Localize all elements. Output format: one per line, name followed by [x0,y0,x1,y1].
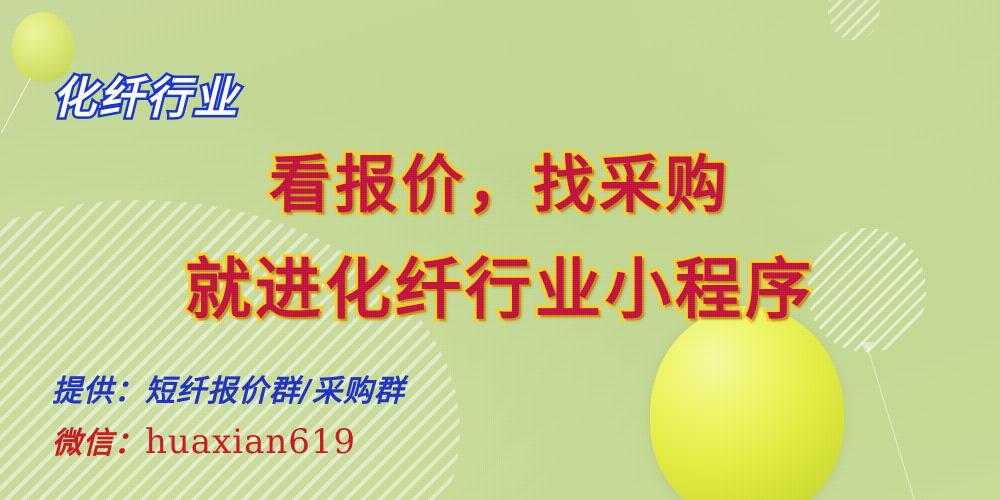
headline-line-1: 看报价，找采购 [0,134,1000,224]
balloon-bottom-right-icon [650,306,844,500]
provide-label: 提供： [52,374,145,409]
promo-poster: 化纤行业 看报价，找采购 就进化纤行业小程序 提供：短纤报价群/采购群 微信：h… [0,0,1000,500]
balloon-string-icon [866,344,918,500]
balloon-string-top-left-icon [1,78,31,133]
wechat-line: 微信：huaxian619 [52,418,356,462]
brand-title: 化纤行业 [52,62,240,126]
striped-balloon-small-icon [828,0,880,40]
wechat-handle: huaxian619 [145,422,356,462]
headline-line-2-text: 就进化纤行业小程序 [185,251,815,328]
wechat-label: 微信： [52,426,145,461]
provide-line: 提供：短纤报价群/采购群 [52,366,405,410]
headline-line-2: 就进化纤行业小程序 [0,236,1000,332]
provide-value: 短纤报价群/采购群 [145,374,405,409]
headline-line-1-text: 看报价，找采购 [269,148,731,221]
